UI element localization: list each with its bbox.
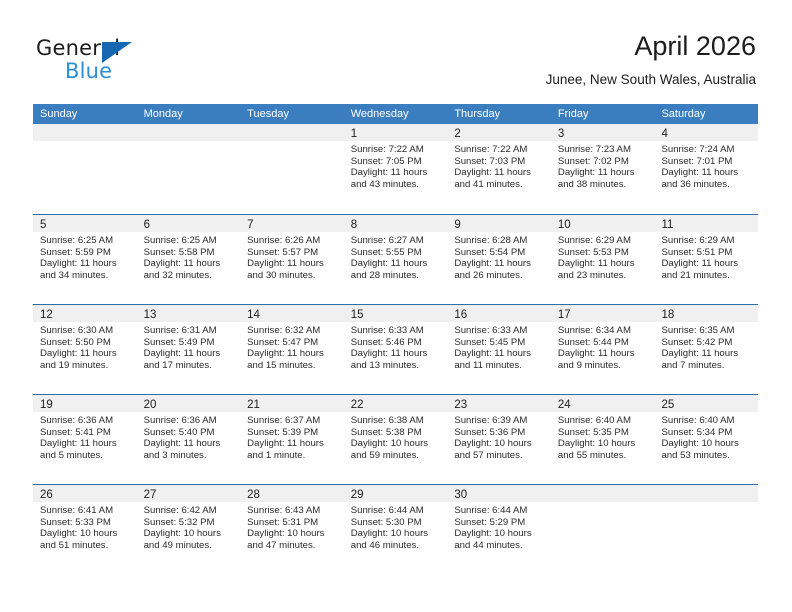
day-number-band: 2 — [447, 124, 551, 141]
day-number-band: 14 — [240, 305, 344, 322]
daylight-text-line1: Daylight: 11 hours — [351, 258, 442, 270]
day-info: Sunrise: 6:27 AMSunset: 5:55 PMDaylight:… — [344, 232, 448, 281]
weekday-header-thursday: Thursday — [447, 104, 551, 124]
calendar-week-row: 5Sunrise: 6:25 AMSunset: 5:59 PMDaylight… — [33, 214, 758, 304]
daylight-text-line2: and 32 minutes. — [144, 270, 235, 282]
weekday-header-friday: Friday — [551, 104, 655, 124]
sunrise-text: Sunrise: 6:32 AM — [247, 325, 338, 337]
day-number: 11 — [661, 217, 673, 234]
calendar-day-cell[interactable]: 7Sunrise: 6:26 AMSunset: 5:57 PMDaylight… — [240, 215, 344, 304]
day-number-band: 24 — [551, 395, 655, 412]
daylight-text-line1: Daylight: 11 hours — [40, 258, 131, 270]
sunrise-text: Sunrise: 6:33 AM — [454, 325, 545, 337]
daylight-text-line1: Daylight: 11 hours — [247, 348, 338, 360]
sunrise-text: Sunrise: 7:23 AM — [558, 144, 649, 156]
day-number-band: 4 — [654, 124, 758, 141]
weekday-header-tuesday: Tuesday — [240, 104, 344, 124]
day-number-band: 29 — [344, 485, 448, 502]
day-number: 29 — [351, 487, 364, 504]
sunrise-text: Sunrise: 6:41 AM — [40, 505, 131, 517]
day-number-band: 1 — [344, 124, 448, 141]
page-header: General Blue April 2026 Junee, New South… — [0, 0, 792, 98]
weekday-header-row: Sunday Monday Tuesday Wednesday Thursday… — [33, 104, 758, 124]
sunset-text: Sunset: 5:59 PM — [40, 247, 131, 259]
calendar-day-cell[interactable]: 15Sunrise: 6:33 AMSunset: 5:46 PMDayligh… — [344, 305, 448, 394]
day-number-band: 10 — [551, 215, 655, 232]
calendar-day-cell-empty — [240, 124, 344, 214]
logo-text-blue: Blue — [65, 59, 112, 83]
daylight-text-line2: and 34 minutes. — [40, 270, 131, 282]
day-number-band: 28 — [240, 485, 344, 502]
sunset-text: Sunset: 5:41 PM — [40, 427, 131, 439]
daylight-text-line1: Daylight: 11 hours — [558, 348, 649, 360]
daylight-text-line1: Daylight: 11 hours — [454, 258, 545, 270]
day-number-band — [654, 485, 758, 502]
day-number-band: 30 — [447, 485, 551, 502]
daylight-text-line2: and 57 minutes. — [454, 450, 545, 462]
day-info: Sunrise: 6:35 AMSunset: 5:42 PMDaylight:… — [654, 322, 758, 371]
title-block: April 2026 Junee, New South Wales, Austr… — [546, 30, 756, 89]
daylight-text-line2: and 47 minutes. — [247, 540, 338, 552]
sunrise-text: Sunrise: 6:25 AM — [40, 235, 131, 247]
day-number-band: 7 — [240, 215, 344, 232]
sunrise-text: Sunrise: 6:44 AM — [454, 505, 545, 517]
calendar-day-cell[interactable]: 10Sunrise: 6:29 AMSunset: 5:53 PMDayligh… — [551, 215, 655, 304]
day-number: 25 — [661, 397, 674, 414]
calendar-day-cell-empty — [137, 124, 241, 214]
daylight-text-line2: and 21 minutes. — [661, 270, 752, 282]
sunrise-text: Sunrise: 7:22 AM — [454, 144, 545, 156]
daylight-text-line1: Daylight: 10 hours — [454, 528, 545, 540]
day-info: Sunrise: 6:29 AMSunset: 5:51 PMDaylight:… — [654, 232, 758, 281]
day-info: Sunrise: 6:44 AMSunset: 5:29 PMDaylight:… — [447, 502, 551, 551]
daylight-text-line2: and 3 minutes. — [144, 450, 235, 462]
sunrise-text: Sunrise: 6:43 AM — [247, 505, 338, 517]
day-number: 8 — [351, 217, 357, 234]
daylight-text-line2: and 43 minutes. — [351, 179, 442, 191]
day-number-band: 27 — [137, 485, 241, 502]
day-number-band: 6 — [137, 215, 241, 232]
sunset-text: Sunset: 5:33 PM — [40, 517, 131, 529]
day-info: Sunrise: 6:33 AMSunset: 5:45 PMDaylight:… — [447, 322, 551, 371]
sunrise-text: Sunrise: 6:36 AM — [144, 415, 235, 427]
day-info: Sunrise: 6:44 AMSunset: 5:30 PMDaylight:… — [344, 502, 448, 551]
sunset-text: Sunset: 5:29 PM — [454, 517, 545, 529]
daylight-text-line2: and 19 minutes. — [40, 360, 131, 372]
day-number-band: 13 — [137, 305, 241, 322]
daylight-text-line2: and 44 minutes. — [454, 540, 545, 552]
day-number: 19 — [40, 397, 53, 414]
day-info: Sunrise: 6:39 AMSunset: 5:36 PMDaylight:… — [447, 412, 551, 461]
daylight-text-line1: Daylight: 11 hours — [144, 348, 235, 360]
day-info: Sunrise: 6:40 AMSunset: 5:35 PMDaylight:… — [551, 412, 655, 461]
day-number-band: 19 — [33, 395, 137, 412]
sunset-text: Sunset: 5:57 PM — [247, 247, 338, 259]
calendar-day-cell[interactable]: 30Sunrise: 6:44 AMSunset: 5:29 PMDayligh… — [447, 485, 551, 574]
calendar-week-row: 26Sunrise: 6:41 AMSunset: 5:33 PMDayligh… — [33, 484, 758, 574]
sunset-text: Sunset: 5:42 PM — [661, 337, 752, 349]
day-info: Sunrise: 6:41 AMSunset: 5:33 PMDaylight:… — [33, 502, 137, 551]
calendar-day-cell[interactable]: 8Sunrise: 6:27 AMSunset: 5:55 PMDaylight… — [344, 215, 448, 304]
sunrise-text: Sunrise: 6:29 AM — [558, 235, 649, 247]
day-number-band — [33, 124, 137, 141]
calendar-day-cell[interactable]: 18Sunrise: 6:35 AMSunset: 5:42 PMDayligh… — [654, 305, 758, 394]
day-number: 16 — [454, 307, 467, 324]
day-number-band: 5 — [33, 215, 137, 232]
calendar-day-cell[interactable]: 26Sunrise: 6:41 AMSunset: 5:33 PMDayligh… — [33, 485, 137, 574]
day-info: Sunrise: 6:33 AMSunset: 5:46 PMDaylight:… — [344, 322, 448, 371]
daylight-text-line1: Daylight: 10 hours — [247, 528, 338, 540]
sunrise-text: Sunrise: 6:29 AM — [661, 235, 752, 247]
daylight-text-line2: and 30 minutes. — [247, 270, 338, 282]
daylight-text-line1: Daylight: 11 hours — [247, 438, 338, 450]
day-number-band: 25 — [654, 395, 758, 412]
sunset-text: Sunset: 5:38 PM — [351, 427, 442, 439]
calendar-day-cell[interactable]: 12Sunrise: 6:30 AMSunset: 5:50 PMDayligh… — [33, 305, 137, 394]
sunset-text: Sunset: 5:44 PM — [558, 337, 649, 349]
daylight-text-line2: and 15 minutes. — [247, 360, 338, 372]
day-number: 4 — [661, 126, 667, 143]
calendar-day-cell[interactable]: 29Sunrise: 6:44 AMSunset: 5:30 PMDayligh… — [344, 485, 448, 574]
sunset-text: Sunset: 5:40 PM — [144, 427, 235, 439]
daylight-text-line1: Daylight: 10 hours — [558, 438, 649, 450]
sunrise-text: Sunrise: 6:30 AM — [40, 325, 131, 337]
day-info: Sunrise: 6:36 AMSunset: 5:41 PMDaylight:… — [33, 412, 137, 461]
calendar-day-cell[interactable]: 28Sunrise: 6:43 AMSunset: 5:31 PMDayligh… — [240, 485, 344, 574]
daylight-text-line1: Daylight: 11 hours — [144, 258, 235, 270]
sunrise-text: Sunrise: 6:28 AM — [454, 235, 545, 247]
sunset-text: Sunset: 5:58 PM — [144, 247, 235, 259]
sunrise-text: Sunrise: 6:39 AM — [454, 415, 545, 427]
sunset-text: Sunset: 5:36 PM — [454, 427, 545, 439]
sunset-text: Sunset: 7:02 PM — [558, 156, 649, 168]
calendar-day-cell[interactable]: 20Sunrise: 6:36 AMSunset: 5:40 PMDayligh… — [137, 395, 241, 484]
day-number: 28 — [247, 487, 260, 504]
calendar-day-cell[interactable]: 24Sunrise: 6:40 AMSunset: 5:35 PMDayligh… — [551, 395, 655, 484]
daylight-text-line2: and 53 minutes. — [661, 450, 752, 462]
sunset-text: Sunset: 5:53 PM — [558, 247, 649, 259]
day-info: Sunrise: 6:32 AMSunset: 5:47 PMDaylight:… — [240, 322, 344, 371]
daylight-text-line2: and 36 minutes. — [661, 179, 752, 191]
day-number: 1 — [351, 126, 357, 143]
day-number-band: 11 — [654, 215, 758, 232]
day-info: Sunrise: 6:37 AMSunset: 5:39 PMDaylight:… — [240, 412, 344, 461]
daylight-text-line1: Daylight: 11 hours — [558, 258, 649, 270]
calendar-day-cell-empty — [654, 485, 758, 574]
weekday-header-saturday: Saturday — [654, 104, 758, 124]
sunset-text: Sunset: 5:39 PM — [247, 427, 338, 439]
calendar-day-cell[interactable]: 14Sunrise: 6:32 AMSunset: 5:47 PMDayligh… — [240, 305, 344, 394]
sunrise-text: Sunrise: 6:25 AM — [144, 235, 235, 247]
calendar-page: General Blue April 2026 Junee, New South… — [0, 0, 792, 612]
day-number: 9 — [454, 217, 460, 234]
day-number: 14 — [247, 307, 260, 324]
calendar-day-cell[interactable]: 27Sunrise: 6:42 AMSunset: 5:32 PMDayligh… — [137, 485, 241, 574]
day-info: Sunrise: 6:29 AMSunset: 5:53 PMDaylight:… — [551, 232, 655, 281]
day-number-band: 18 — [654, 305, 758, 322]
daylight-text-line1: Daylight: 11 hours — [661, 348, 752, 360]
daylight-text-line2: and 51 minutes. — [40, 540, 131, 552]
generalblue-logo[interactable]: General Blue — [36, 36, 236, 86]
calendar-day-cell[interactable]: 3Sunrise: 7:23 AMSunset: 7:02 PMDaylight… — [551, 124, 655, 214]
day-number-band: 16 — [447, 305, 551, 322]
day-info: Sunrise: 6:26 AMSunset: 5:57 PMDaylight:… — [240, 232, 344, 281]
day-number: 13 — [144, 307, 157, 324]
daylight-text-line2: and 49 minutes. — [144, 540, 235, 552]
sunset-text: Sunset: 5:30 PM — [351, 517, 442, 529]
day-number: 18 — [661, 307, 674, 324]
sunrise-text: Sunrise: 6:37 AM — [247, 415, 338, 427]
sunset-text: Sunset: 7:03 PM — [454, 156, 545, 168]
sunrise-text: Sunrise: 6:27 AM — [351, 235, 442, 247]
day-number: 23 — [454, 397, 467, 414]
calendar-day-cell[interactable]: 23Sunrise: 6:39 AMSunset: 5:36 PMDayligh… — [447, 395, 551, 484]
day-number-band: 8 — [344, 215, 448, 232]
daylight-text-line1: Daylight: 11 hours — [661, 258, 752, 270]
day-number-band: 12 — [33, 305, 137, 322]
calendar-weeks: 1Sunrise: 7:22 AMSunset: 7:05 PMDaylight… — [33, 124, 758, 574]
sunrise-text: Sunrise: 6:38 AM — [351, 415, 442, 427]
daylight-text-line1: Daylight: 10 hours — [144, 528, 235, 540]
sunset-text: Sunset: 7:01 PM — [661, 156, 752, 168]
daylight-text-line1: Daylight: 11 hours — [454, 348, 545, 360]
daylight-text-line2: and 13 minutes. — [351, 360, 442, 372]
daylight-text-line1: Daylight: 11 hours — [40, 438, 131, 450]
sunset-text: Sunset: 5:45 PM — [454, 337, 545, 349]
day-info: Sunrise: 7:22 AMSunset: 7:03 PMDaylight:… — [447, 141, 551, 190]
day-info: Sunrise: 6:31 AMSunset: 5:49 PMDaylight:… — [137, 322, 241, 371]
sunset-text: Sunset: 5:31 PM — [247, 517, 338, 529]
calendar-day-cell[interactable]: 11Sunrise: 6:29 AMSunset: 5:51 PMDayligh… — [654, 215, 758, 304]
daylight-text-line2: and 28 minutes. — [351, 270, 442, 282]
sunrise-text: Sunrise: 6:31 AM — [144, 325, 235, 337]
day-number: 15 — [351, 307, 364, 324]
day-number-band: 9 — [447, 215, 551, 232]
day-number: 17 — [558, 307, 571, 324]
sunrise-text: Sunrise: 7:24 AM — [661, 144, 752, 156]
day-info: Sunrise: 6:42 AMSunset: 5:32 PMDaylight:… — [137, 502, 241, 551]
day-info: Sunrise: 7:24 AMSunset: 7:01 PMDaylight:… — [654, 141, 758, 190]
sunrise-text: Sunrise: 6:34 AM — [558, 325, 649, 337]
daylight-text-line2: and 1 minute. — [247, 450, 338, 462]
calendar-week-row: 1Sunrise: 7:22 AMSunset: 7:05 PMDaylight… — [33, 124, 758, 214]
sunrise-text: Sunrise: 6:35 AM — [661, 325, 752, 337]
daylight-text-line1: Daylight: 10 hours — [351, 528, 442, 540]
day-info: Sunrise: 6:30 AMSunset: 5:50 PMDaylight:… — [33, 322, 137, 371]
calendar-day-cell[interactable]: 17Sunrise: 6:34 AMSunset: 5:44 PMDayligh… — [551, 305, 655, 394]
day-number-band: 15 — [344, 305, 448, 322]
calendar-day-cell[interactable]: 19Sunrise: 6:36 AMSunset: 5:41 PMDayligh… — [33, 395, 137, 484]
sunrise-text: Sunrise: 6:40 AM — [558, 415, 649, 427]
daylight-text-line2: and 55 minutes. — [558, 450, 649, 462]
day-number: 3 — [558, 126, 564, 143]
daylight-text-line2: and 38 minutes. — [558, 179, 649, 191]
day-number: 21 — [247, 397, 260, 414]
day-info: Sunrise: 6:40 AMSunset: 5:34 PMDaylight:… — [654, 412, 758, 461]
daylight-text-line2: and 41 minutes. — [454, 179, 545, 191]
sunset-text: Sunset: 5:49 PM — [144, 337, 235, 349]
calendar-day-cell[interactable]: 2Sunrise: 7:22 AMSunset: 7:03 PMDaylight… — [447, 124, 551, 214]
day-number-band: 26 — [33, 485, 137, 502]
daylight-text-line1: Daylight: 10 hours — [661, 438, 752, 450]
daylight-text-line2: and 7 minutes. — [661, 360, 752, 372]
sunrise-text: Sunrise: 6:44 AM — [351, 505, 442, 517]
calendar-week-row: 12Sunrise: 6:30 AMSunset: 5:50 PMDayligh… — [33, 304, 758, 394]
calendar-day-cell[interactable]: 4Sunrise: 7:24 AMSunset: 7:01 PMDaylight… — [654, 124, 758, 214]
location-subtitle: Junee, New South Wales, Australia — [546, 71, 756, 89]
day-info: Sunrise: 6:38 AMSunset: 5:38 PMDaylight:… — [344, 412, 448, 461]
daylight-text-line2: and 26 minutes. — [454, 270, 545, 282]
daylight-text-line2: and 46 minutes. — [351, 540, 442, 552]
day-number-band: 22 — [344, 395, 448, 412]
sunrise-text: Sunrise: 7:22 AM — [351, 144, 442, 156]
day-info: Sunrise: 6:36 AMSunset: 5:40 PMDaylight:… — [137, 412, 241, 461]
sunset-text: Sunset: 5:34 PM — [661, 427, 752, 439]
calendar-day-cell[interactable]: 5Sunrise: 6:25 AMSunset: 5:59 PMDaylight… — [33, 215, 137, 304]
day-number: 27 — [144, 487, 157, 504]
calendar-day-cell[interactable]: 9Sunrise: 6:28 AMSunset: 5:54 PMDaylight… — [447, 215, 551, 304]
day-number: 26 — [40, 487, 53, 504]
daylight-text-line1: Daylight: 11 hours — [351, 348, 442, 360]
sunset-text: Sunset: 5:54 PM — [454, 247, 545, 259]
weekday-header-sunday: Sunday — [33, 104, 137, 124]
calendar-day-cell-empty — [551, 485, 655, 574]
day-number-band: 21 — [240, 395, 344, 412]
daylight-text-line1: Daylight: 11 hours — [144, 438, 235, 450]
day-number: 6 — [144, 217, 150, 234]
weekday-header-wednesday: Wednesday — [344, 104, 448, 124]
daylight-text-line2: and 23 minutes. — [558, 270, 649, 282]
day-info: Sunrise: 6:43 AMSunset: 5:31 PMDaylight:… — [240, 502, 344, 551]
sunset-text: Sunset: 5:47 PM — [247, 337, 338, 349]
daylight-text-line2: and 11 minutes. — [454, 360, 545, 372]
day-info: Sunrise: 6:28 AMSunset: 5:54 PMDaylight:… — [447, 232, 551, 281]
day-number-band — [551, 485, 655, 502]
calendar-day-cell[interactable]: 21Sunrise: 6:37 AMSunset: 5:39 PMDayligh… — [240, 395, 344, 484]
sunrise-text: Sunrise: 6:33 AM — [351, 325, 442, 337]
day-info: Sunrise: 7:22 AMSunset: 7:05 PMDaylight:… — [344, 141, 448, 190]
day-info: Sunrise: 6:25 AMSunset: 5:59 PMDaylight:… — [33, 232, 137, 281]
sunset-text: Sunset: 5:35 PM — [558, 427, 649, 439]
day-number: 5 — [40, 217, 46, 234]
sunset-text: Sunset: 5:46 PM — [351, 337, 442, 349]
day-number-band — [240, 124, 344, 141]
sunrise-text: Sunrise: 6:26 AM — [247, 235, 338, 247]
day-number: 20 — [144, 397, 157, 414]
calendar-day-cell[interactable]: 22Sunrise: 6:38 AMSunset: 5:38 PMDayligh… — [344, 395, 448, 484]
day-info: Sunrise: 6:25 AMSunset: 5:58 PMDaylight:… — [137, 232, 241, 281]
day-number-band: 23 — [447, 395, 551, 412]
daylight-text-line1: Daylight: 11 hours — [40, 348, 131, 360]
daylight-text-line2: and 5 minutes. — [40, 450, 131, 462]
daylight-text-line2: and 9 minutes. — [558, 360, 649, 372]
day-number: 24 — [558, 397, 571, 414]
daylight-text-line1: Daylight: 11 hours — [351, 167, 442, 179]
sunset-text: Sunset: 5:32 PM — [144, 517, 235, 529]
day-number: 12 — [40, 307, 53, 324]
weekday-header-monday: Monday — [137, 104, 241, 124]
sunrise-text: Sunrise: 6:40 AM — [661, 415, 752, 427]
day-number-band — [137, 124, 241, 141]
daylight-text-line1: Daylight: 11 hours — [247, 258, 338, 270]
sunset-text: Sunset: 7:05 PM — [351, 156, 442, 168]
daylight-text-line1: Daylight: 11 hours — [558, 167, 649, 179]
calendar-day-cell[interactable]: 16Sunrise: 6:33 AMSunset: 5:45 PMDayligh… — [447, 305, 551, 394]
sunrise-text: Sunrise: 6:36 AM — [40, 415, 131, 427]
day-number: 30 — [454, 487, 467, 504]
calendar-day-cell-empty — [33, 124, 137, 214]
day-info: Sunrise: 6:34 AMSunset: 5:44 PMDaylight:… — [551, 322, 655, 371]
day-number-band: 17 — [551, 305, 655, 322]
day-number: 10 — [558, 217, 571, 234]
calendar-day-cell[interactable]: 25Sunrise: 6:40 AMSunset: 5:34 PMDayligh… — [654, 395, 758, 484]
daylight-text-line1: Daylight: 11 hours — [661, 167, 752, 179]
sunset-text: Sunset: 5:50 PM — [40, 337, 131, 349]
sunrise-text: Sunrise: 6:42 AM — [144, 505, 235, 517]
daylight-text-line1: Daylight: 11 hours — [454, 167, 545, 179]
sunset-text: Sunset: 5:55 PM — [351, 247, 442, 259]
day-number: 22 — [351, 397, 364, 414]
day-number: 2 — [454, 126, 460, 143]
page-title: April 2026 — [546, 30, 756, 62]
calendar-day-cell[interactable]: 13Sunrise: 6:31 AMSunset: 5:49 PMDayligh… — [137, 305, 241, 394]
day-info: Sunrise: 7:23 AMSunset: 7:02 PMDaylight:… — [551, 141, 655, 190]
daylight-text-line1: Daylight: 10 hours — [351, 438, 442, 450]
calendar-day-cell[interactable]: 6Sunrise: 6:25 AMSunset: 5:58 PMDaylight… — [137, 215, 241, 304]
daylight-text-line1: Daylight: 10 hours — [40, 528, 131, 540]
day-number-band: 20 — [137, 395, 241, 412]
day-number-band: 3 — [551, 124, 655, 141]
daylight-text-line2: and 17 minutes. — [144, 360, 235, 372]
sunset-text: Sunset: 5:51 PM — [661, 247, 752, 259]
daylight-text-line1: Daylight: 10 hours — [454, 438, 545, 450]
calendar-day-cell[interactable]: 1Sunrise: 7:22 AMSunset: 7:05 PMDaylight… — [344, 124, 448, 214]
day-number: 7 — [247, 217, 253, 234]
calendar-week-row: 19Sunrise: 6:36 AMSunset: 5:41 PMDayligh… — [33, 394, 758, 484]
daylight-text-line2: and 59 minutes. — [351, 450, 442, 462]
calendar-grid: Sunday Monday Tuesday Wednesday Thursday… — [33, 104, 758, 574]
